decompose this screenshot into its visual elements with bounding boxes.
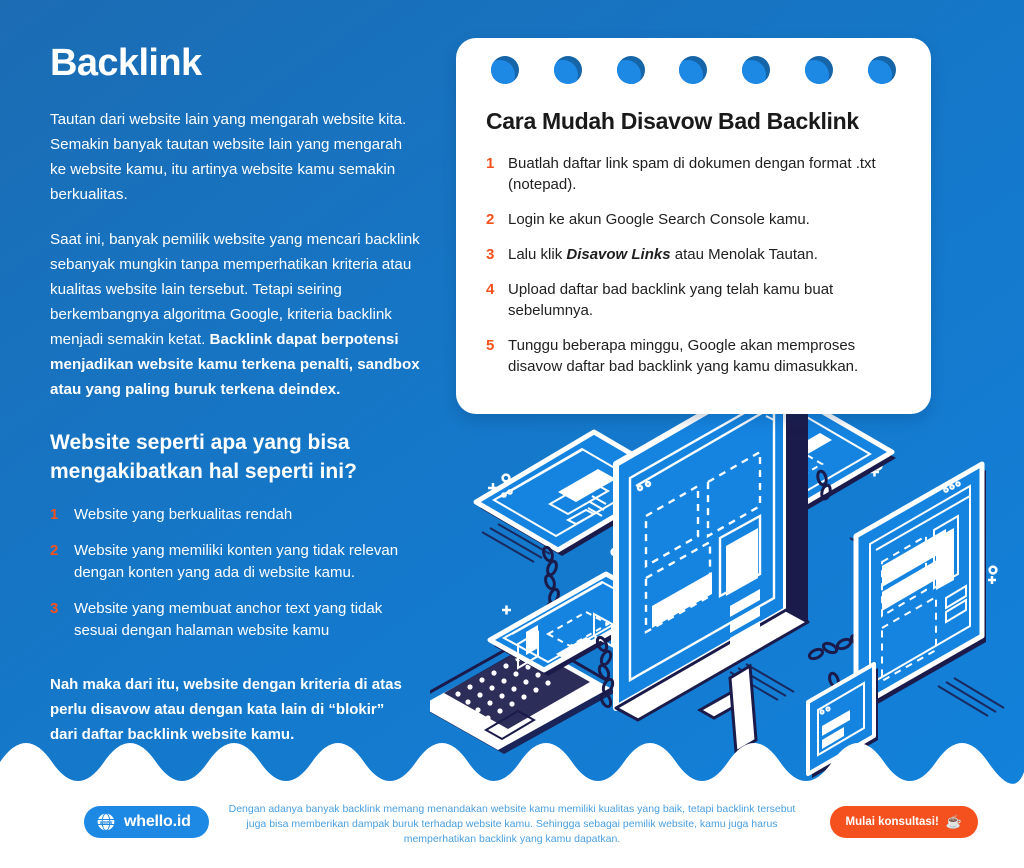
page-title: Backlink — [50, 42, 422, 85]
whello-logo[interactable]: www whello.id — [84, 806, 209, 838]
coffee-cup-icon: ☕ — [946, 814, 962, 830]
start-consultation-button[interactable]: Mulai konsultasi! ☕ — [830, 806, 978, 838]
step-text-emphasis: Disavow Links — [566, 246, 670, 263]
binder-ring-icon — [679, 56, 707, 84]
list-item-label: Lalu klik Disavow Links atau Menolak Tau… — [508, 244, 818, 265]
binder-rings — [456, 56, 931, 90]
binder-ring-icon — [617, 56, 645, 84]
cta-label: Mulai konsultasi! — [846, 816, 939, 828]
list-item: 1 Website yang berkualitas rendah — [50, 504, 422, 526]
binder-ring-icon — [868, 56, 896, 84]
binder-ring-icon — [491, 56, 519, 84]
binder-ring-icon — [554, 56, 582, 84]
steps-list: 1 Buatlah daftar link spam di dokumen de… — [486, 153, 903, 377]
binder-ring-icon — [805, 56, 833, 84]
infographic-page: Backlink Tautan dari website lain yang m… — [0, 0, 1024, 868]
list-item-number: 3 — [50, 598, 74, 642]
list-item: 2 Website yang memiliki konten yang tida… — [50, 540, 422, 584]
list-item-label: Website yang membuat anchor text yang ti… — [74, 598, 422, 642]
list-item-number: 3 — [486, 244, 508, 265]
step-text-before: Buatlah daftar link spam di dokumen deng… — [508, 155, 876, 193]
card-title: Cara Mudah Disavow Bad Backlink — [486, 108, 903, 135]
list-item: 3 Lalu klik Disavow Links atau Menolak T… — [486, 244, 903, 265]
svg-text:www: www — [99, 820, 113, 826]
list-item-label: Website yang memiliki konten yang tidak … — [74, 540, 422, 584]
list-item: 1 Buatlah daftar link spam di dokumen de… — [486, 153, 903, 195]
list-item-label: Buatlah daftar link spam di dokumen deng… — [508, 153, 903, 195]
device-tablet-right — [856, 464, 1024, 716]
logo-label: whello.id — [124, 813, 191, 831]
list-item: 4 Upload daftar bad backlink yang telah … — [486, 279, 903, 321]
step-text-before: Login ke akun Google Search Console kamu… — [508, 211, 810, 228]
left-content-column: Backlink Tautan dari website lain yang m… — [50, 42, 422, 747]
disavow-steps-card: Cara Mudah Disavow Bad Backlink 1 Buatla… — [456, 38, 931, 414]
list-item-number: 2 — [486, 209, 508, 230]
step-text-before: Tunggu beberapa minggu, Google akan memp… — [508, 337, 858, 375]
reasons-list: 1 Website yang berkualitas rendah 2 Webs… — [50, 504, 422, 642]
section-title: Website seperti apa yang bisa mengakibat… — [50, 428, 422, 486]
footer-description: Dengan adanya banyak backlink memang men… — [228, 802, 796, 847]
list-item-number: 1 — [50, 504, 74, 526]
list-item-number: 2 — [50, 540, 74, 584]
wave-divider — [0, 716, 1024, 796]
footer-bar: www whello.id Dengan adanya banyak backl… — [0, 796, 1024, 868]
list-item-number: 1 — [486, 153, 508, 195]
intro-paragraph-1: Tautan dari website lain yang mengarah w… — [50, 107, 422, 207]
list-item-label: Tunggu beberapa minggu, Google akan memp… — [508, 335, 903, 377]
list-item: 3 Website yang membuat anchor text yang … — [50, 598, 422, 642]
intro-paragraph-2: Saat ini, banyak pemilik website yang me… — [50, 227, 422, 402]
binder-ring-icon — [742, 56, 770, 84]
step-text-before: Lalu klik — [508, 246, 566, 263]
list-item-label: Upload daftar bad backlink yang telah ka… — [508, 279, 903, 321]
globe-www-icon: www — [96, 812, 116, 832]
step-text-after: atau Menolak Tautan. — [671, 246, 818, 263]
list-item-label: Website yang berkualitas rendah — [74, 504, 292, 526]
step-text-before: Upload daftar bad backlink yang telah ka… — [508, 281, 833, 319]
list-item: 2 Login ke akun Google Search Console ka… — [486, 209, 903, 230]
list-item-number: 4 — [486, 279, 508, 321]
list-item: 5 Tunggu beberapa minggu, Google akan me… — [486, 335, 903, 377]
list-item-label: Login ke akun Google Search Console kamu… — [508, 209, 810, 230]
list-item-number: 5 — [486, 335, 508, 377]
